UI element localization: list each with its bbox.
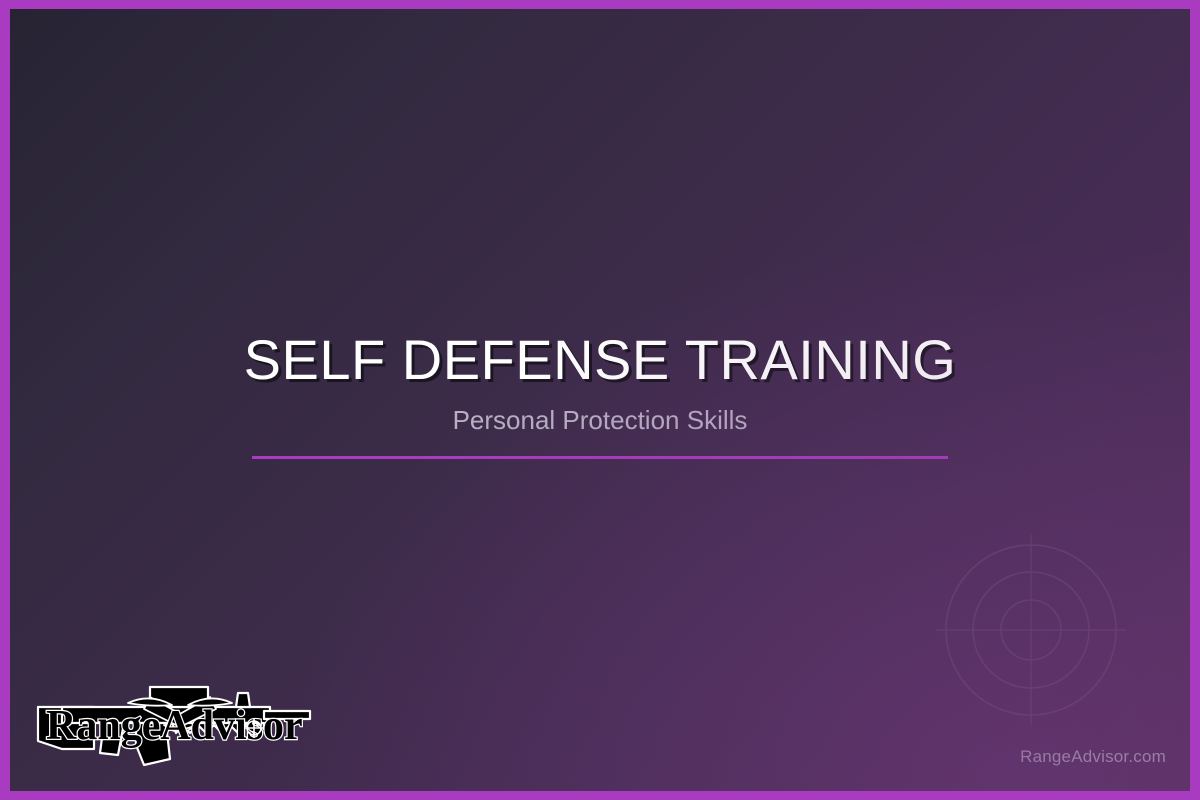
title-block: SELF DEFENSE TRAINING Personal Protectio… — [10, 329, 1190, 459]
page-subtitle: Personal Protection Skills — [10, 405, 1190, 436]
presentation-slide: SELF DEFENSE TRAINING Personal Protectio… — [0, 0, 1200, 800]
site-url-label: RangeAdvisor.com — [1020, 747, 1166, 767]
brand-wordmark: RangeAdvisor — [46, 703, 303, 749]
rifle-logo-icon: RangeAdvisor — [32, 667, 317, 772]
crosshair-target-icon — [931, 530, 1131, 730]
slide-canvas: SELF DEFENSE TRAINING Personal Protectio… — [10, 9, 1190, 791]
title-divider — [252, 456, 948, 459]
page-title: SELF DEFENSE TRAINING — [10, 329, 1190, 391]
